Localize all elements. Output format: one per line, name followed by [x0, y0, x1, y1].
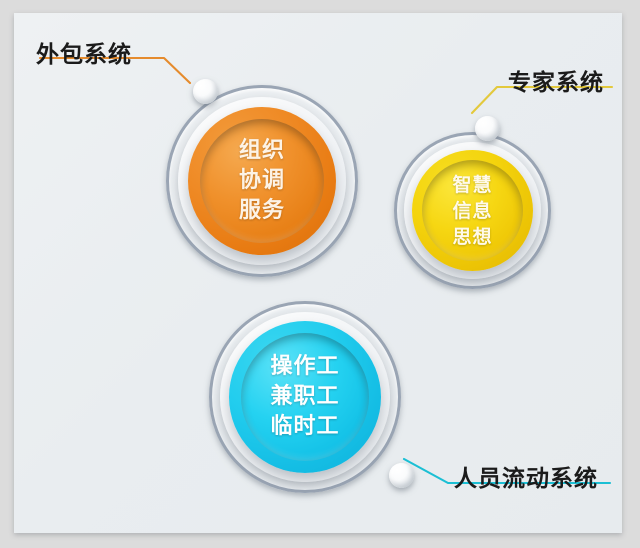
- node-label-line-2: 信息: [452, 198, 492, 224]
- node-label-line-3: 服务: [239, 196, 285, 226]
- node-label-stack: 智慧 信息 思想: [422, 160, 523, 261]
- node-mobility[interactable]: 操作工 兼职工 临时工: [209, 301, 401, 493]
- callout-label-outsourcing: 外包系统: [36, 35, 132, 69]
- node-disc-inner: 操作工 兼职工 临时工: [241, 333, 369, 461]
- connector-knob-expert[interactable]: [475, 116, 500, 141]
- callout-label-expert: 专家系统: [508, 63, 604, 97]
- node-label-stack: 操作工 兼职工 临时工: [241, 333, 369, 461]
- node-label-stack: 组织 协调 服务: [200, 119, 324, 243]
- node-disc-orange[interactable]: 组织 协调 服务: [188, 107, 336, 255]
- node-label-line-1: 操作工: [270, 352, 339, 382]
- node-disc-yellow[interactable]: 智慧 信息 思想: [412, 150, 533, 271]
- diagram-canvas: 组织 协调 服务 智慧 信息 思想: [0, 0, 640, 548]
- connector-knob-mobility[interactable]: [389, 463, 414, 488]
- node-outsourcing[interactable]: 组织 协调 服务: [166, 85, 358, 277]
- node-label-line-2: 协调: [239, 166, 285, 196]
- node-label-line-3: 思想: [452, 224, 492, 250]
- node-disc-cyan[interactable]: 操作工 兼职工 临时工: [229, 321, 381, 473]
- node-expert[interactable]: 智慧 信息 思想: [394, 132, 551, 289]
- node-disc-inner: 智慧 信息 思想: [422, 160, 523, 261]
- node-label-line-2: 兼职工: [270, 382, 339, 412]
- node-disc-inner: 组织 协调 服务: [200, 119, 324, 243]
- node-label-line-1: 智慧: [452, 172, 492, 198]
- node-label-line-1: 组织: [239, 136, 285, 166]
- node-label-line-3: 临时工: [270, 412, 339, 442]
- connector-knob-outsourcing[interactable]: [193, 79, 218, 104]
- callout-label-mobility: 人员流动系统: [454, 459, 598, 493]
- diagram-panel: 组织 协调 服务 智慧 信息 思想: [14, 13, 622, 533]
